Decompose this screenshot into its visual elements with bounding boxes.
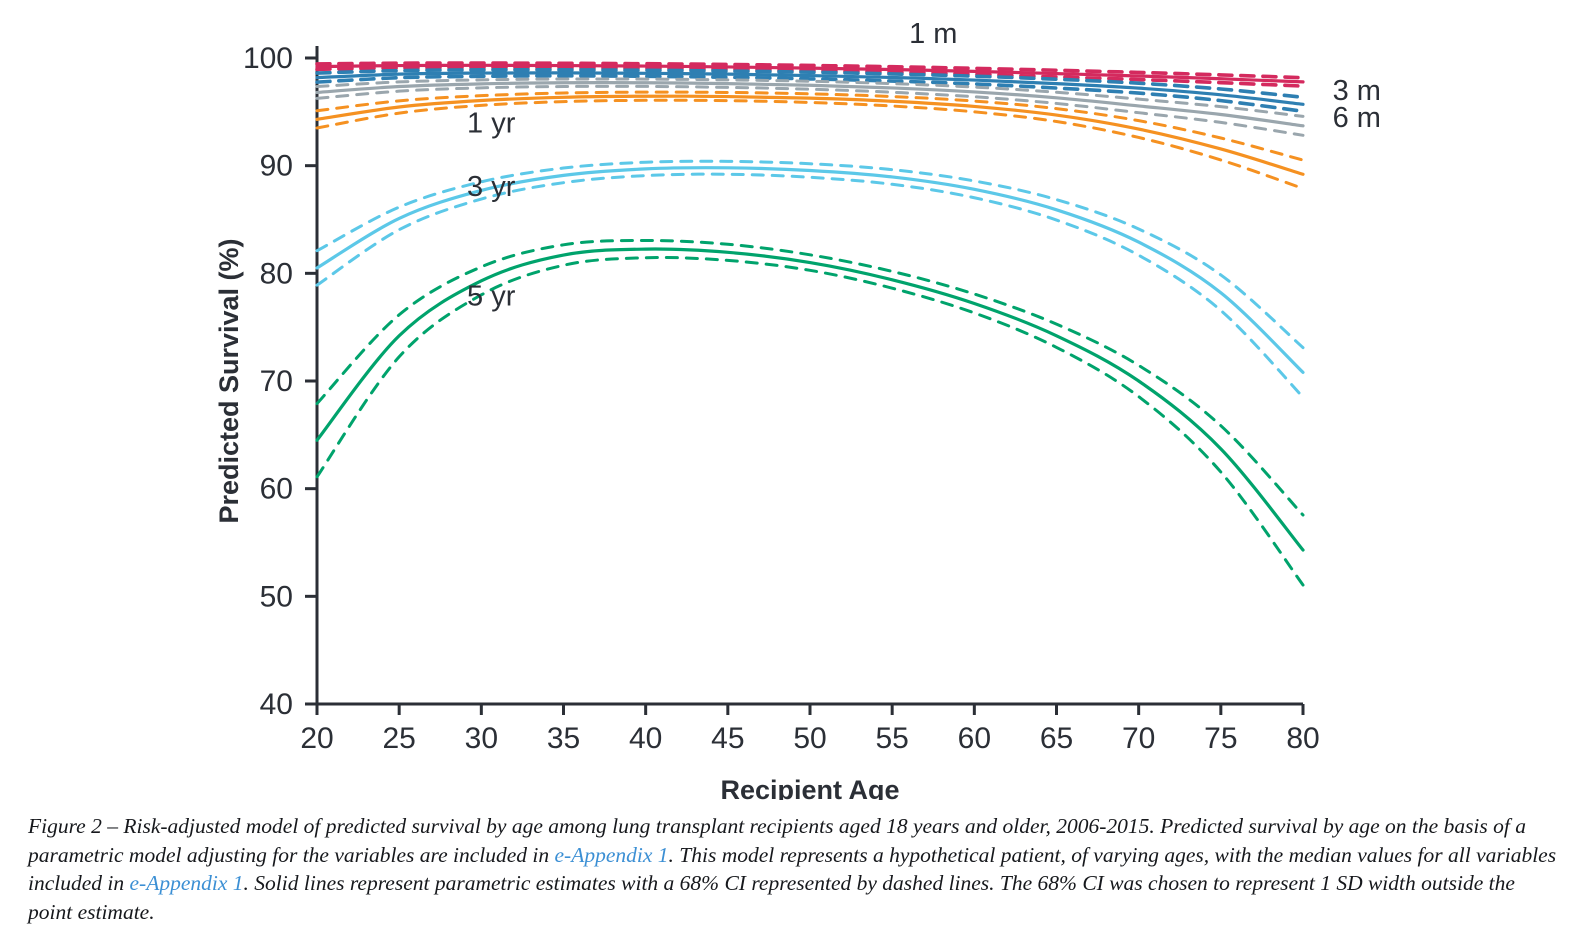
x-tick-label: 35 — [547, 722, 580, 755]
x-tick-label: 45 — [711, 722, 744, 755]
series-3-yr — [317, 161, 1303, 397]
x-tick-label: 60 — [958, 722, 991, 755]
x-tick-label: 25 — [382, 722, 415, 755]
series-label-3-yr: 3 yr — [467, 171, 516, 203]
series-ci-band-line — [317, 257, 1303, 585]
tick-labels-group: 2025303540455055606570758040506070809010… — [243, 42, 1320, 755]
caption-link-e-appendix-1-second[interactable]: e-Appendix 1 — [130, 871, 244, 895]
y-tick-label: 70 — [260, 365, 293, 398]
caption-part-3: . Solid lines represent parametric estim… — [28, 871, 1515, 924]
y-tick-label: 100 — [243, 42, 293, 75]
series-label-1-m: 1 m — [909, 18, 957, 50]
y-axis-title: Predicted Survival (%) — [214, 238, 244, 523]
x-tick-label: 80 — [1286, 722, 1319, 755]
series-ci-band-line — [317, 174, 1303, 397]
series-label-6-m: 6 m — [1333, 102, 1381, 134]
figure-caption: Figure 2 – Risk-adjusted model of predic… — [28, 812, 1558, 926]
axis-ticks-group — [305, 58, 1303, 715]
figure-2-root: 2025303540455055606570758040506070809010… — [0, 0, 1582, 946]
series-ci-band-line — [317, 240, 1303, 515]
y-tick-label: 40 — [260, 688, 293, 721]
x-tick-label: 75 — [1204, 722, 1237, 755]
y-tick-label: 80 — [260, 257, 293, 290]
x-tick-label: 50 — [793, 722, 826, 755]
series-curves-group — [317, 63, 1303, 585]
y-tick-label: 60 — [260, 473, 293, 506]
x-tick-label: 40 — [629, 722, 662, 755]
axis-lines-group — [317, 46, 1303, 704]
series-estimate-line — [317, 249, 1303, 550]
x-tick-label: 70 — [1122, 722, 1155, 755]
x-tick-label: 30 — [465, 722, 498, 755]
x-axis-title: Recipient Age — [720, 775, 899, 800]
series-label-5-yr: 5 yr — [467, 281, 516, 313]
series-label-1-yr: 1 yr — [467, 107, 516, 139]
y-tick-label: 50 — [260, 580, 293, 613]
predicted-survival-line-chart: 2025303540455055606570758040506070809010… — [0, 0, 1582, 800]
series-5-yr — [317, 240, 1303, 585]
y-tick-label: 90 — [260, 150, 293, 183]
chart-plot-area: 2025303540455055606570758040506070809010… — [0, 0, 1582, 800]
x-tick-label: 20 — [300, 722, 333, 755]
x-tick-label: 55 — [875, 722, 908, 755]
caption-link-e-appendix-1[interactable]: e-Appendix 1 — [555, 843, 669, 867]
x-tick-label: 65 — [1040, 722, 1073, 755]
